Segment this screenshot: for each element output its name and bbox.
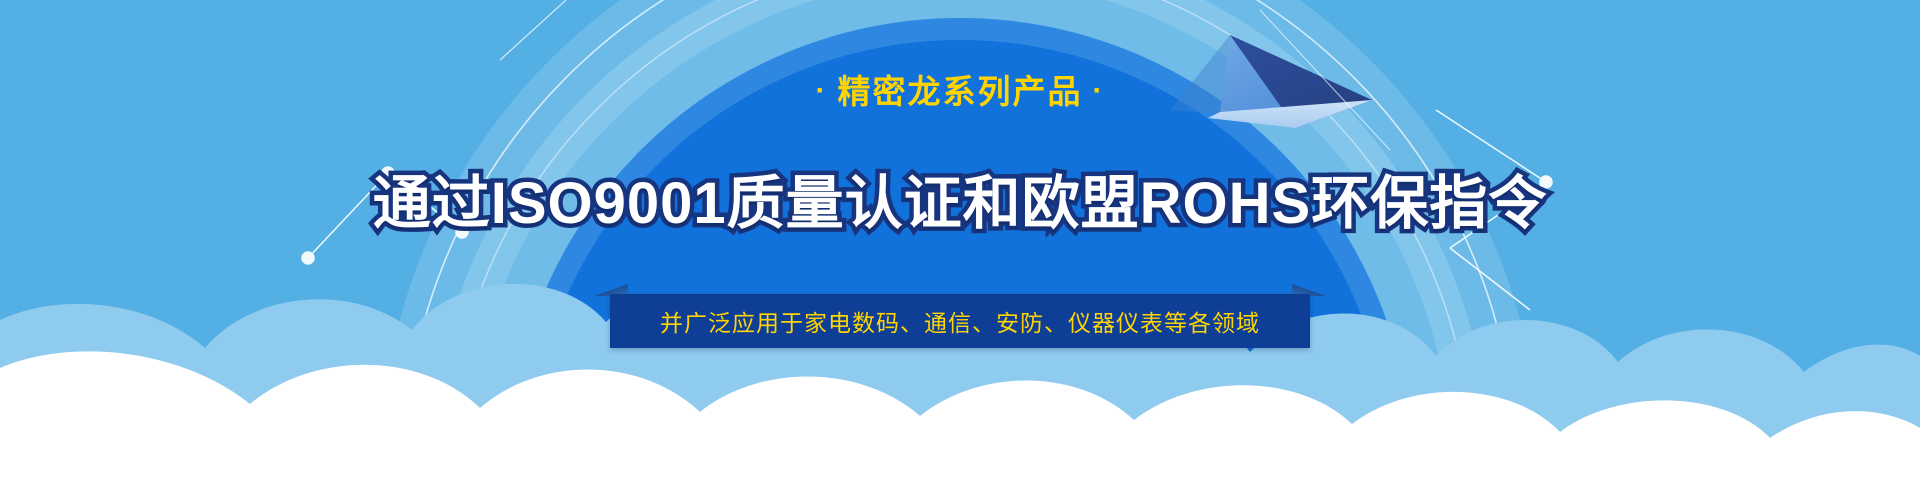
subtitle-text: 精密龙系列产品 [838, 73, 1083, 110]
promo-banner: ·精密龙系列产品· 通过ISO9001质量认证和欧盟ROHS环保指令 并广泛应用… [0, 0, 1920, 480]
ribbon-text: 并广泛应用于家电数码、通信、安防、仪器仪表等各领域 [660, 304, 1260, 338]
subtitle-right-dot: · [1093, 73, 1105, 109]
banner-headline: 通过ISO9001质量认证和欧盟ROHS环保指令 [0, 172, 1920, 236]
banner-subtitle: ·精密龙系列产品· [0, 72, 1920, 112]
ribbon-body: 并广泛应用于家电数码、通信、安防、仪器仪表等各领域 [610, 294, 1310, 348]
banner-ribbon: 并广泛应用于家电数码、通信、安防、仪器仪表等各领域 [610, 294, 1310, 348]
subtitle-left-dot: · [816, 73, 828, 109]
